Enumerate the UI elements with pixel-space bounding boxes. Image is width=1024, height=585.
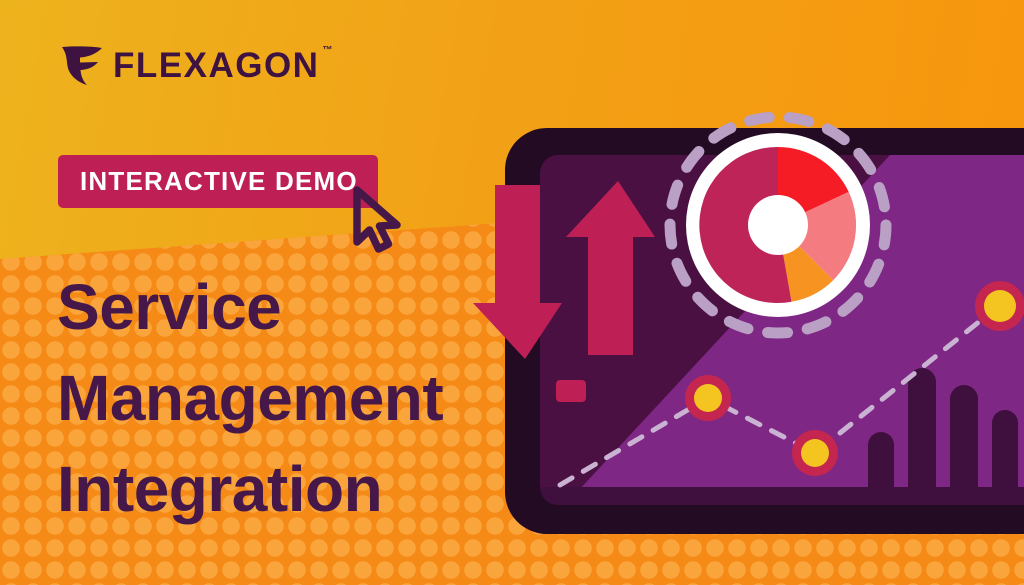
screen-chip	[556, 380, 586, 402]
interactive-demo-badge[interactable]: INTERACTIVE DEMO	[58, 155, 378, 208]
trend-marker-2	[792, 430, 838, 476]
tablet-analytics-illustration	[460, 80, 1024, 540]
chart-baseline	[540, 487, 1024, 505]
interactive-demo-badge-group: INTERACTIVE DEMO	[58, 155, 378, 208]
flexagon-f-swoosh-icon	[60, 44, 104, 86]
mouse-pointer-arrow-icon	[350, 185, 406, 255]
trademark-symbol: ™	[322, 46, 332, 56]
donut-chart	[686, 133, 870, 317]
donut-hole	[748, 195, 808, 255]
flexagon-logo[interactable]: FLEXAGON ™	[60, 44, 319, 86]
promo-banner: FLEXAGON ™ INTERACTIVE DEMO Service Mana…	[0, 0, 1024, 585]
headline-line-3: Integration	[57, 444, 527, 535]
logo-wordmark-text: FLEXAGON	[113, 46, 319, 85]
illustration-svg	[460, 80, 1024, 540]
logo-wordmark: FLEXAGON ™	[113, 48, 319, 83]
headline-line-1: Service	[57, 262, 527, 353]
page-title: Service Management Integration	[57, 262, 527, 535]
headline-line-2: Management	[57, 353, 527, 444]
trend-marker-3	[975, 281, 1024, 331]
trend-marker-1	[685, 375, 731, 421]
bar-2	[908, 368, 936, 507]
